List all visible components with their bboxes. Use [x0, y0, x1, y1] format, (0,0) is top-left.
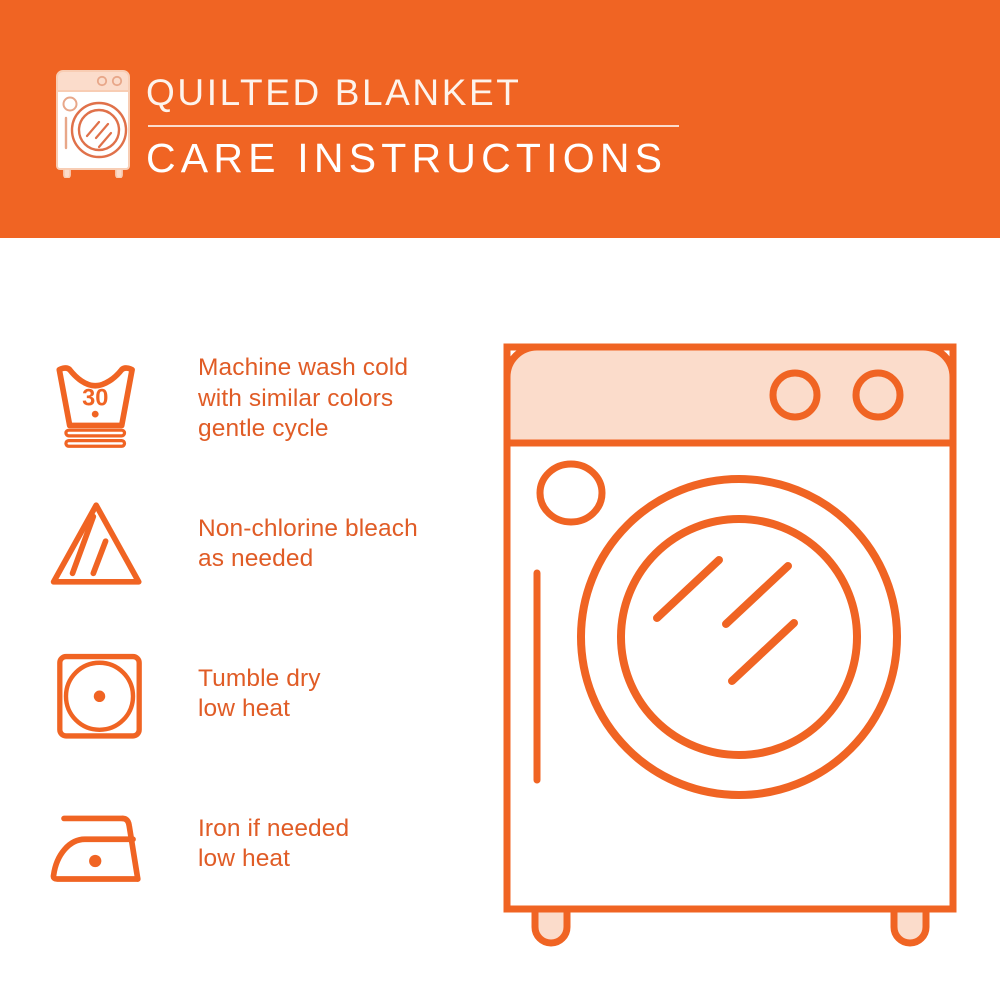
care-instructions-list: 30 Machine wash cold with similar colors… — [0, 238, 500, 1000]
header-title-block: QUILTED BLANKET CARE INSTRUCTIONS — [146, 70, 706, 183]
knob-icon[interactable] — [856, 373, 900, 417]
machine-leg — [535, 909, 567, 943]
page-title-secondary: CARE INSTRUCTIONS — [146, 133, 706, 183]
care-item-label: Tumble dry low heat — [198, 664, 321, 725]
care-item-label: Iron if needed low heat — [198, 814, 349, 875]
title-divider — [148, 125, 679, 127]
iron-low-heat-icon — [44, 789, 154, 899]
wash-tub-30-icon: 30 — [44, 344, 154, 454]
care-item-tumble-dry: Tumble dry low heat — [0, 629, 470, 759]
non-chlorine-bleach-triangle-icon — [44, 489, 154, 599]
washing-machine-logo-icon — [46, 68, 150, 178]
wash-temperature-value: 30 — [82, 386, 108, 412]
care-item-iron: Iron if needed low heat — [0, 779, 470, 909]
care-item-label: Non-chlorine bleach as needed — [198, 514, 418, 575]
page-title-primary: QUILTED BLANKET — [146, 70, 706, 116]
header-banner: QUILTED BLANKET CARE INSTRUCTIONS — [0, 0, 1000, 238]
washing-machine-illustration — [490, 325, 970, 950]
machine-leg — [894, 909, 926, 943]
care-item-machine-wash: 30 Machine wash cold with similar colors… — [0, 334, 470, 464]
care-item-label: Machine wash cold with similar colors ge… — [198, 353, 408, 445]
knob-icon[interactable] — [773, 373, 817, 417]
care-item-bleach: Non-chlorine bleach as needed — [0, 479, 470, 609]
tumble-dry-low-heat-icon — [44, 639, 154, 749]
